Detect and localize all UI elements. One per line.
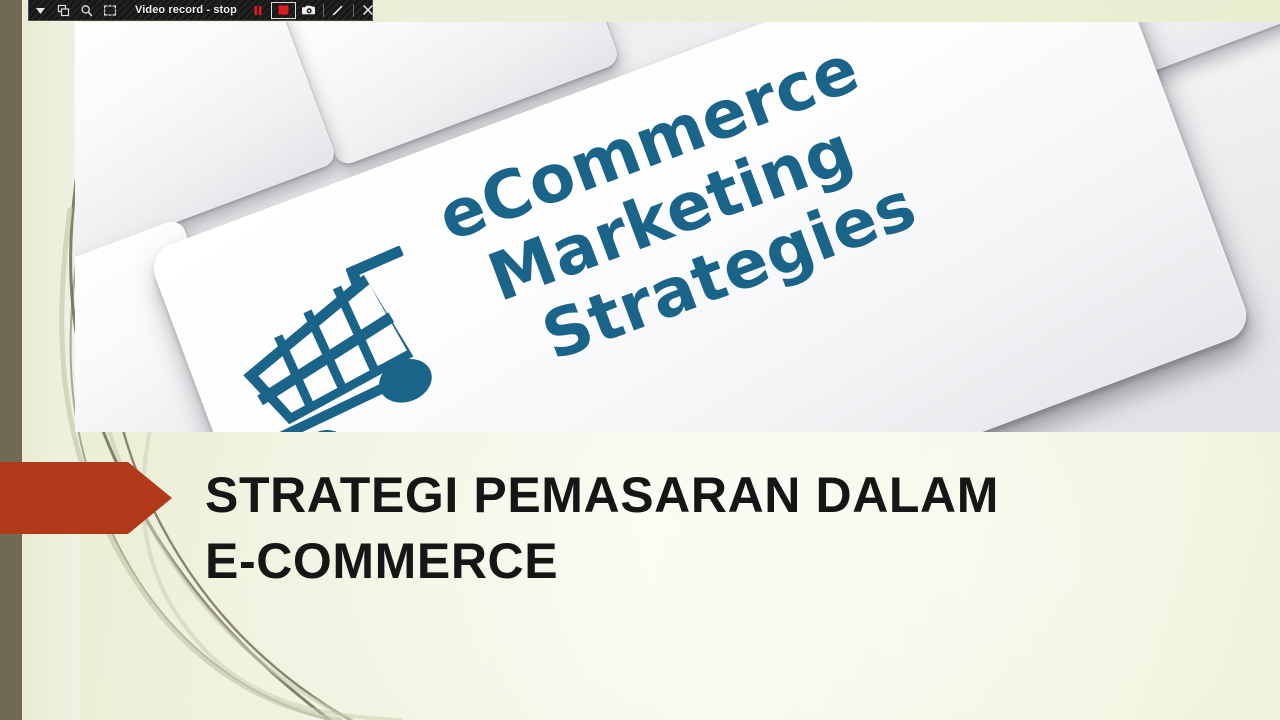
- screen-recorder-toolbar[interactable]: Video record - stop: [28, 0, 373, 21]
- screen-recording-frame: eCommerce Marketing Strategies STRATEGI …: [0, 0, 1280, 720]
- close-x-icon[interactable]: [357, 1, 380, 20]
- title-line-2: E-COMMERCE: [205, 528, 1245, 594]
- pencil-icon[interactable]: [327, 1, 350, 20]
- slide-left-band: [22, 0, 80, 720]
- pause-icon[interactable]: [247, 1, 270, 20]
- shopping-cart-icon: [209, 233, 491, 432]
- toolbar-separator-2: [353, 4, 354, 17]
- region-select-icon[interactable]: [98, 1, 121, 20]
- camera-icon[interactable]: [297, 1, 320, 20]
- recorder-status-title: Video record - stop: [121, 4, 247, 16]
- slide-left-accent-bar: [0, 0, 22, 720]
- stop-record-icon[interactable]: [271, 2, 296, 19]
- caret-down-icon[interactable]: [29, 1, 52, 20]
- title-line-1: STRATEGI PEMASARAN DALAM: [205, 462, 1245, 528]
- title-accent-arrow: [0, 458, 172, 538]
- page-title: STRATEGI PEMASARAN DALAM E-COMMERCE: [205, 462, 1245, 594]
- magnifier-icon[interactable]: [75, 1, 98, 20]
- toolbar-separator-1: [323, 4, 324, 17]
- window-select-icon[interactable]: [52, 1, 75, 20]
- slide-photo: eCommerce Marketing Strategies: [75, 22, 1280, 432]
